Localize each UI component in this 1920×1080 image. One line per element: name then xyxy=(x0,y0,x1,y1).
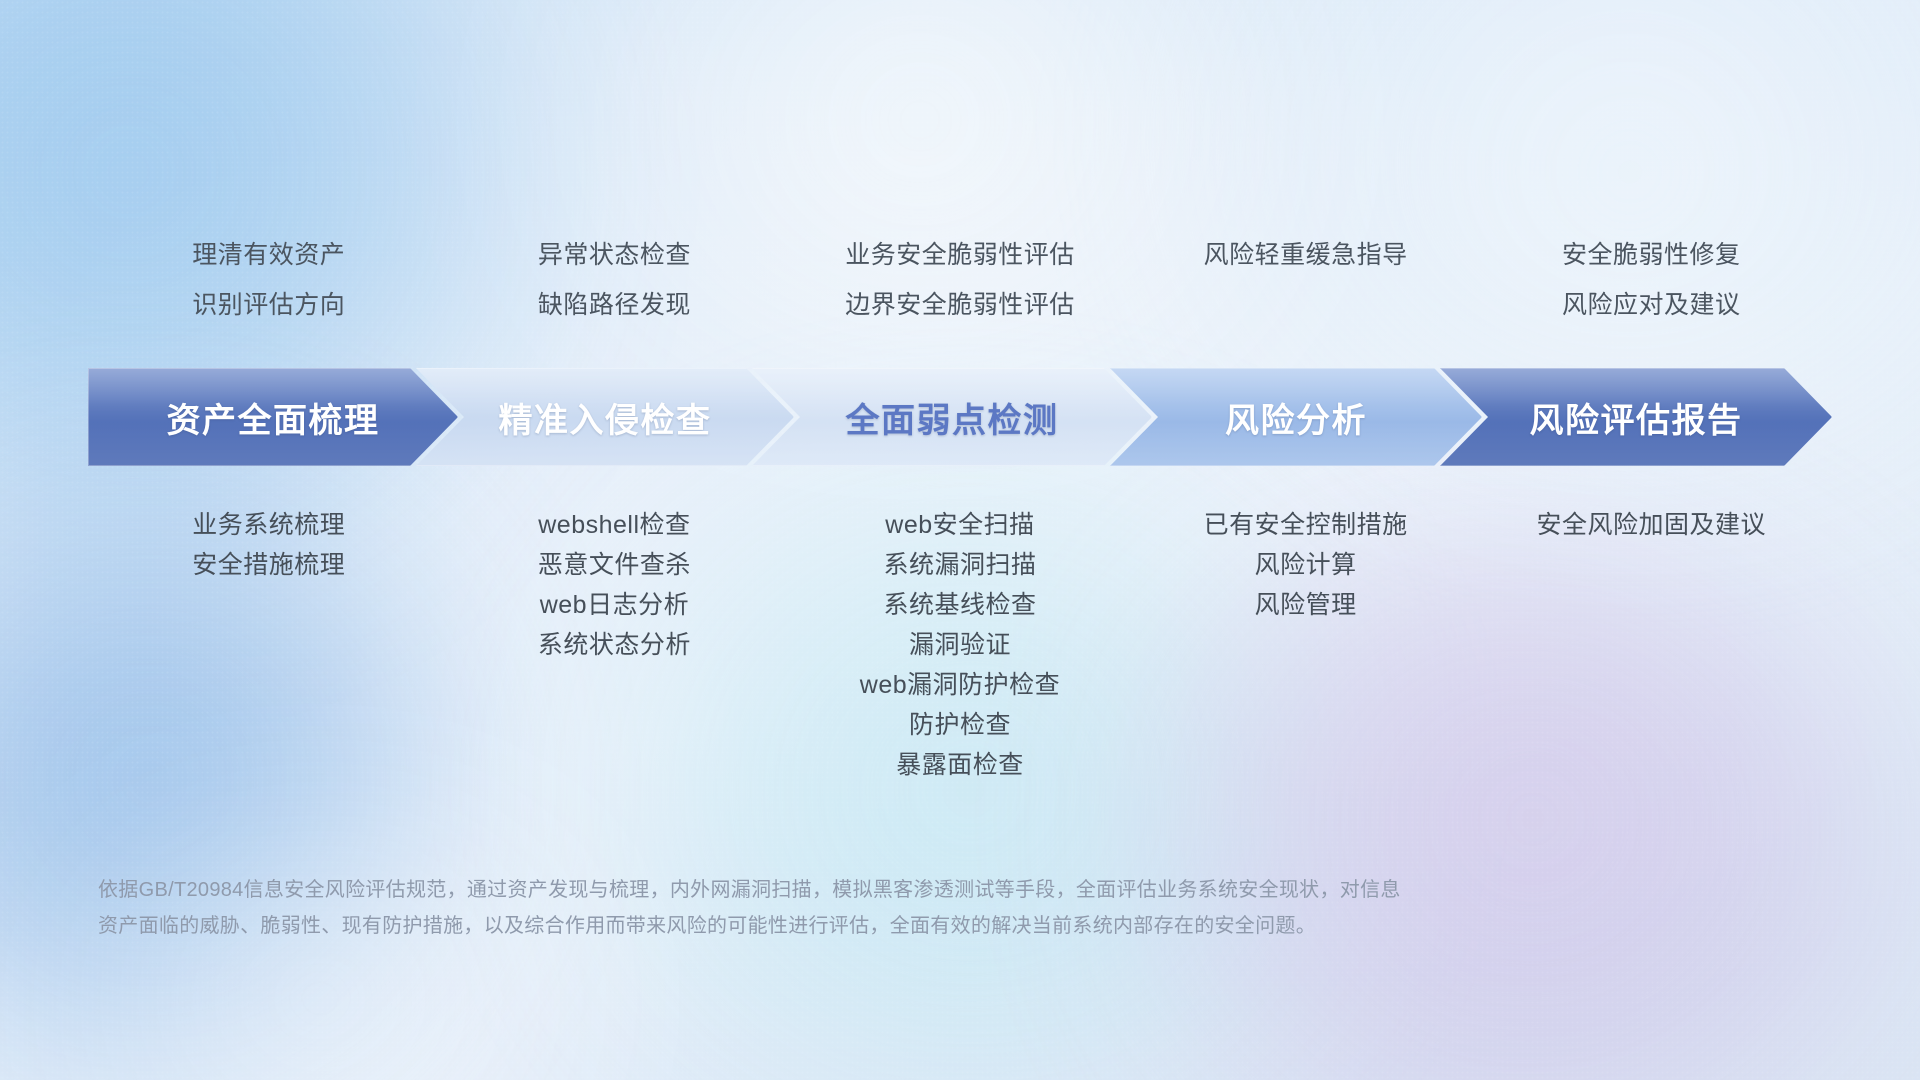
bottom-labels-risk-report: 安全风险加固及建议 xyxy=(1478,505,1824,785)
top-labels-intrusion-check: 异常状态检查 缺陷路径发现 xyxy=(442,230,788,330)
top-label-item: 安全脆弱性修复 xyxy=(1478,230,1824,280)
top-label-item: 识别评估方向 xyxy=(96,280,442,330)
top-label-item: 异常状态检查 xyxy=(442,230,788,280)
top-labels-risk-analysis: 风险轻重缓急指导 xyxy=(1133,230,1479,330)
top-label-item: 业务安全脆弱性评估 xyxy=(787,230,1133,280)
bottom-labels-risk-analysis: 已有安全控制措施 风险计算 风险管理 xyxy=(1133,505,1479,785)
bottom-label-item: web日志分析 xyxy=(442,585,788,625)
bottom-label-item: 系统基线检查 xyxy=(787,585,1133,625)
bottom-label-item: web安全扫描 xyxy=(787,505,1133,545)
chevron-label: 风险评估报告 xyxy=(1530,393,1743,442)
chevron-stage-risk-analysis[interactable]: 风险分析 xyxy=(1110,368,1482,466)
bottom-label-item: 系统状态分析 xyxy=(442,625,788,665)
top-label-item: 风险轻重缓急指导 xyxy=(1133,230,1479,280)
slide-canvas: 理清有效资产 识别评估方向 异常状态检查 缺陷路径发现 业务安全脆弱性评估 边界… xyxy=(0,0,1920,1080)
top-label-item: 风险应对及建议 xyxy=(1478,280,1824,330)
top-label-item: 边界安全脆弱性评估 xyxy=(787,280,1133,330)
footnote-paragraph: 依据GB/T20984信息安全风险评估规范，通过资产发现与梳理，内外网漏洞扫描，… xyxy=(98,872,1658,944)
bottom-label-item: webshell检查 xyxy=(442,505,788,545)
footnote-line: 资产面临的威胁、脆弱性、现有防护措施，以及综合作用而带来风险的可能性进行评估，全… xyxy=(98,908,1658,944)
top-labels-weakness-detection: 业务安全脆弱性评估 边界安全脆弱性评估 xyxy=(787,230,1133,330)
bottom-label-item: 防护检查 xyxy=(787,705,1133,745)
bottom-label-item: 风险计算 xyxy=(1133,545,1479,585)
bottom-labels-weakness-detection: web安全扫描 系统漏洞扫描 系统基线检查 漏洞验证 web漏洞防护检查 防护检… xyxy=(787,505,1133,785)
bottom-label-item: 恶意文件查杀 xyxy=(442,545,788,585)
chevron-stage-asset-inventory[interactable]: 资产全面梳理 xyxy=(88,368,458,466)
bottom-label-item: 漏洞验证 xyxy=(787,625,1133,665)
top-label-item: 缺陷路径发现 xyxy=(442,280,788,330)
chevron-stage-intrusion-check[interactable]: 精准入侵检查 xyxy=(416,368,794,466)
chevron-stage-weakness-detection[interactable]: 全面弱点检测 xyxy=(752,368,1152,466)
process-chevron-band: 资产全面梳理 精准入侵检查 全面弱点检测 风险分析 风险评估报告 xyxy=(88,368,1832,466)
bottom-label-item: 安全风险加固及建议 xyxy=(1478,505,1824,545)
chevron-stage-risk-report[interactable]: 风险评估报告 xyxy=(1440,368,1832,466)
bottom-label-item: web漏洞防护检查 xyxy=(787,665,1133,705)
bottom-label-row: 业务系统梳理 安全措施梳理 webshell检查 恶意文件查杀 web日志分析 … xyxy=(96,505,1824,785)
bottom-labels-intrusion-check: webshell检查 恶意文件查杀 web日志分析 系统状态分析 xyxy=(442,505,788,785)
bottom-label-item: 系统漏洞扫描 xyxy=(787,545,1133,585)
bottom-label-item: 风险管理 xyxy=(1133,585,1479,625)
chevron-label: 风险分析 xyxy=(1225,393,1367,442)
bottom-label-item: 暴露面检查 xyxy=(787,745,1133,785)
top-label-row: 理清有效资产 识别评估方向 异常状态检查 缺陷路径发现 业务安全脆弱性评估 边界… xyxy=(96,230,1824,330)
slide-content: 理清有效资产 识别评估方向 异常状态检查 缺陷路径发现 业务安全脆弱性评估 边界… xyxy=(0,0,1920,1080)
bottom-label-item: 已有安全控制措施 xyxy=(1133,505,1479,545)
chevron-label: 资产全面梳理 xyxy=(167,393,380,442)
footnote-line: 依据GB/T20984信息安全风险评估规范，通过资产发现与梳理，内外网漏洞扫描，… xyxy=(98,872,1658,908)
bottom-labels-asset-inventory: 业务系统梳理 安全措施梳理 xyxy=(96,505,442,785)
chevron-label: 精准入侵检查 xyxy=(499,393,712,442)
top-label-item: 理清有效资产 xyxy=(96,230,442,280)
top-labels-asset-inventory: 理清有效资产 识别评估方向 xyxy=(96,230,442,330)
bottom-label-item: 业务系统梳理 xyxy=(96,505,442,545)
top-labels-risk-report: 安全脆弱性修复 风险应对及建议 xyxy=(1478,230,1824,330)
bottom-label-item: 安全措施梳理 xyxy=(96,545,442,585)
chevron-label: 全面弱点检测 xyxy=(846,393,1059,442)
